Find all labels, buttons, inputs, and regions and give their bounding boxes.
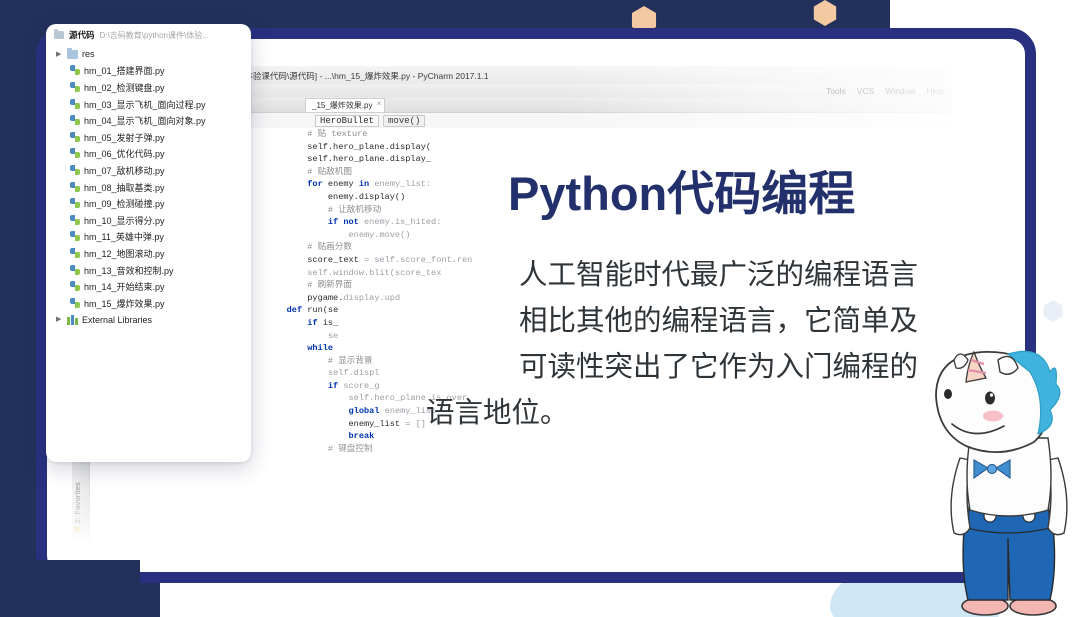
menu-item-vcs[interactable]: VCS xyxy=(857,86,874,96)
tree-item-label: hm_11_英雄中弹.py xyxy=(84,230,164,243)
code-token: # 让敌机移动 xyxy=(328,205,381,215)
code-token: # 刷新界面 xyxy=(307,280,352,290)
project-file-tree[interactable]: ▶reshm_01_搭建界面.pyhm_02_检测键盘.pyhm_03_显示飞机… xyxy=(46,44,251,328)
python-file-icon xyxy=(70,99,80,110)
python-file-icon xyxy=(70,65,80,76)
code-token: # 贴画分数 xyxy=(307,242,352,252)
python-file-icon xyxy=(70,215,80,226)
code-token: # 显示背景 xyxy=(328,356,373,366)
python-file-icon xyxy=(70,298,80,309)
code-token: display.upd xyxy=(343,293,400,303)
tree-item-file[interactable]: hm_14_开始结束.py xyxy=(46,278,251,295)
code-token: enemy xyxy=(328,179,359,189)
breadcrumb-class[interactable]: HeroBullet xyxy=(315,115,379,127)
python-file-icon xyxy=(70,182,80,193)
tree-item-file[interactable]: hm_01_搭建界面.py xyxy=(46,63,251,80)
tree-item-file[interactable]: hm_10_显示得分.py xyxy=(46,212,251,229)
code-token: if not xyxy=(328,217,364,227)
code-token: score_text xyxy=(307,255,364,265)
body-line: 相比其他的编程语言，它简单及 xyxy=(418,298,918,344)
menu-item-window[interactable]: Window xyxy=(885,86,915,96)
tree-item-file[interactable]: hm_05_发射子弹.py xyxy=(46,129,251,146)
folder-icon xyxy=(54,31,64,39)
folder-icon xyxy=(67,50,78,59)
popup-path: D:\吉码教育\python课件\体验... xyxy=(100,30,209,41)
popup-header: 源代码 D:\吉码教育\python课件\体验... xyxy=(46,24,251,44)
tree-item-file[interactable]: hm_13_音效和控制.py xyxy=(46,262,251,279)
library-icon xyxy=(67,315,78,325)
python-file-icon xyxy=(70,148,80,159)
code-token: global xyxy=(349,406,385,416)
code-token: enemy.move() xyxy=(349,230,411,240)
tree-item-label: hm_09_检测碰撞.py xyxy=(84,197,165,210)
code-token: self.hero_plane.display_ xyxy=(307,154,431,164)
tree-item-label: hm_06_优化代码.py xyxy=(84,147,165,160)
star-icon xyxy=(75,527,81,533)
body-line: 可读性突出了它作为入门编程的 xyxy=(418,344,918,390)
code-token: enemy_list: xyxy=(374,179,431,189)
tree-item-label: hm_03_显示飞机_面向过程.py xyxy=(84,98,206,111)
tree-item-file[interactable]: hm_04_显示飞机_面向对象.py xyxy=(46,112,251,129)
python-file-icon xyxy=(70,198,80,209)
python-file-icon xyxy=(70,281,80,292)
python-file-icon xyxy=(70,231,80,242)
tree-item-label: hm_05_发射子弹.py xyxy=(84,131,165,144)
chevron-right-icon[interactable]: ▶ xyxy=(56,51,63,58)
code-token: break xyxy=(349,431,375,441)
project-tree-popup[interactable]: 源代码 D:\吉码教育\python课件\体验... ▶reshm_01_搭建界… xyxy=(46,24,251,462)
tree-item-label: hm_13_音效和控制.py xyxy=(84,264,174,277)
body-line: 语言地位。 xyxy=(418,390,918,436)
code-line: enemy.move() xyxy=(266,229,952,242)
code-token: run(se xyxy=(307,305,338,315)
tree-item-file[interactable]: hm_06_优化代码.py xyxy=(46,146,251,163)
poster-canvas: 源代码 - [D:\吉码教育\python课件\体验课\体验课代码\源代码] -… xyxy=(0,0,1080,617)
code-token: # 贴 texture xyxy=(307,129,367,139)
code-token: in xyxy=(359,179,374,189)
tree-item-file[interactable]: hm_11_英雄中弹.py xyxy=(46,229,251,246)
code-token: pygame. xyxy=(307,293,343,303)
tree-item-label: res xyxy=(82,49,95,59)
tree-item-label: hm_07_敌机移动.py xyxy=(84,164,165,177)
code-token: se xyxy=(328,331,338,341)
code-token: if xyxy=(307,318,322,328)
tree-item-file[interactable]: hm_03_显示飞机_面向过程.py xyxy=(46,96,251,113)
breadcrumb-method[interactable]: move() xyxy=(383,115,425,127)
tree-item-file[interactable]: hm_02_检测键盘.py xyxy=(46,79,251,96)
code-token: enemy.display() xyxy=(328,192,405,202)
menu-item-help[interactable]: Help xyxy=(927,86,952,96)
code-token: def xyxy=(287,305,308,315)
code-line: # 键盘控制 xyxy=(266,443,952,456)
code-token: is_ xyxy=(323,318,338,328)
tree-item-file[interactable]: hm_07_敌机移动.py xyxy=(46,162,251,179)
tree-item-label: External Libraries xyxy=(82,315,152,325)
chevron-right-icon[interactable]: ▶ xyxy=(56,316,63,323)
tree-item-file[interactable]: hm_08_抽取基类.py xyxy=(46,179,251,196)
tree-item-label: hm_02_检测键盘.py xyxy=(84,81,165,94)
code-token: if xyxy=(328,381,343,391)
tree-item-label: hm_04_显示飞机_面向对象.py xyxy=(84,114,206,127)
code-token: self.hero_plane.display( xyxy=(307,142,431,152)
code-token: enemy_list xyxy=(349,419,406,429)
code-token: score_g xyxy=(343,381,379,391)
menu-item-tools[interactable]: Tools xyxy=(826,86,846,96)
code-token: enemy.is_hited: xyxy=(364,217,441,227)
code-token: # 键盘控制 xyxy=(328,444,373,454)
python-file-icon xyxy=(70,132,80,143)
python-file-icon xyxy=(70,248,80,259)
code-line: self.hero_plane.display( xyxy=(266,141,952,154)
code-token: # 贴敌机图 xyxy=(307,167,352,177)
tree-item-file[interactable]: hm_15_爆炸效果.py xyxy=(46,295,251,312)
python-file-icon xyxy=(70,165,80,176)
tree-item-external-libraries[interactable]: ▶External Libraries xyxy=(46,312,251,329)
python-file-icon xyxy=(70,82,80,93)
tree-item-label: hm_15_爆炸效果.py xyxy=(84,297,165,310)
tree-item-label: hm_08_抽取基类.py xyxy=(84,181,165,194)
frame-bottom-left-mask xyxy=(0,560,140,617)
tree-item-file[interactable]: hm_12_地图滚动.py xyxy=(46,245,251,262)
tree-item-label: hm_01_搭建界面.py xyxy=(84,64,165,77)
code-token: for xyxy=(307,179,328,189)
code-token: while xyxy=(307,343,338,353)
tool-tab-label: 2: Favorites xyxy=(73,482,82,524)
code-line: # 贴 texture xyxy=(266,128,952,141)
code-token: self.displ xyxy=(328,368,380,378)
body-line: 人工智能时代最广泛的编程语言 xyxy=(418,252,918,298)
tab-hm15[interactable]: _15_爆炸效果.py xyxy=(305,98,385,112)
tree-item-label: hm_12_地图滚动.py xyxy=(84,247,165,260)
popup-title: 源代码 xyxy=(69,29,95,41)
tree-item-label: hm_10_显示得分.py xyxy=(84,214,165,227)
tree-item-file[interactable]: hm_09_检测碰撞.py xyxy=(46,195,251,212)
sidebar-item-favorites[interactable]: 2: Favorites xyxy=(73,482,82,533)
python-file-icon xyxy=(70,265,80,276)
tree-item-folder[interactable]: ▶res xyxy=(46,46,251,63)
python-file-icon xyxy=(70,115,80,126)
page-title: Python代码编程 xyxy=(508,155,855,224)
tree-item-label: hm_14_开始结束.py xyxy=(84,280,165,293)
body-paragraph: 人工智能时代最广泛的编程语言 相比其他的编程语言，它简单及 可读性突出了它作为入… xyxy=(418,252,918,436)
unicorn-mascot-icon xyxy=(930,338,1080,617)
